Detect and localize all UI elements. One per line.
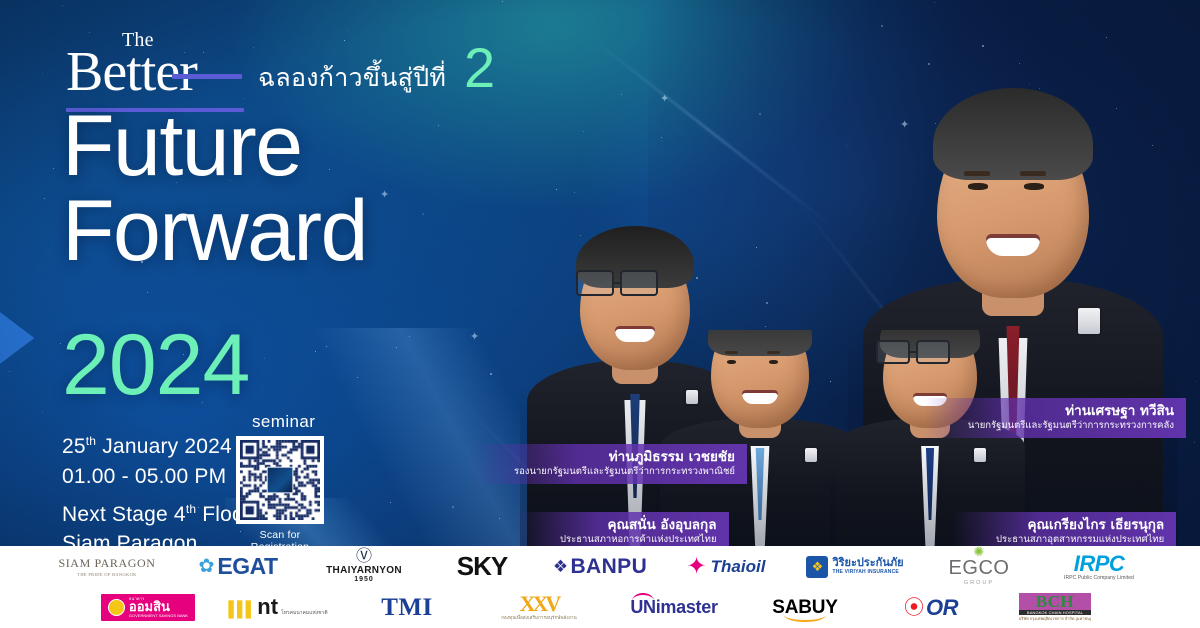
or-droplet-icon: ⦿ xyxy=(904,598,924,618)
event-time: 01.00 - 05.00 PM xyxy=(62,462,251,492)
speaker-name: ท่านภูมิธรรม เวชยชัย xyxy=(514,449,735,466)
egco-leaf-icon: ✺ xyxy=(949,547,1010,556)
sponsor-row-2: ธนาคาร ออมสิน GOVERNMENT SAVINGS BANK ▌▌… xyxy=(0,587,1200,628)
sponsor-sub: THE VIRIYAH INSURANCE xyxy=(832,570,903,575)
thaioil-flame-icon: ✦ xyxy=(687,555,707,579)
sponsor-sub: GOVERNMENT SAVINGS BANK xyxy=(129,614,188,618)
speaker-role: ประธานสภาหอการค้าแห่งประเทศไทย xyxy=(560,534,717,546)
venue-floor-text: Next Stage 4 xyxy=(62,503,186,526)
anniversary-thai-text: ฉลองก้าวขึ้นสู่ปีที่ xyxy=(258,58,446,98)
sponsor-name: TMI xyxy=(381,594,433,622)
page-title: Future Forward xyxy=(62,104,367,274)
sponsor-logo-banpu: ❖ BANPU xyxy=(537,550,663,584)
sponsor-logo-tmi: TMI xyxy=(343,591,471,625)
speaker-role: นายกรัฐมนตรีและรัฐมนตรีว่าการกระทรวงการค… xyxy=(968,420,1174,432)
sponsor-name: SKY xyxy=(457,551,507,582)
unimaster-arc-icon xyxy=(632,593,654,601)
sponsor-tagline: THE PRIDE OF BANGKOK xyxy=(58,572,155,577)
sponsor-name: BANPU xyxy=(570,555,647,579)
speaker-caption-pm: ท่านเศรษฐา ทวีสิน นายกรัฐมนตรีและรัฐมนตร… xyxy=(924,398,1186,438)
speaker-caption-deputy-pm: ท่านภูมิธรรม เวชยชัย รองนายกรัฐมนตรีและร… xyxy=(470,444,747,484)
sponsor-logo-sky: SKY xyxy=(427,550,537,584)
sponsor-logo-nt: ▌▌▌ nt โทรคมนาคมแห่งชาติ xyxy=(213,591,343,625)
vw-roundel-icon: Ⓥ xyxy=(326,550,402,564)
egat-mark-icon: ✿ xyxy=(198,557,214,576)
viriyah-emblem-icon: ❖ xyxy=(806,556,828,578)
sponsor-name: XXV xyxy=(501,594,577,614)
sponsor-logo-irpc: IRPC IRPC Public Company Limited xyxy=(1037,550,1161,584)
sponsor-name: EGCO xyxy=(949,557,1010,580)
sponsor-logo-energy-fund: XXV กองทุนเพื่อส่งเสริมการอนุรักษ์พลังงา… xyxy=(471,591,607,625)
sponsor-logo-viriyah: ❖ วิริยะประกันภัย THE VIRIYAH INSURANCE xyxy=(789,550,921,584)
logo-better-text: Better xyxy=(66,44,197,100)
event-date-ordinal: th xyxy=(86,434,96,448)
sponsor-name: THAIYARNYON xyxy=(326,565,402,576)
registration-qr-block[interactable]: Scan for Registration xyxy=(232,436,328,553)
qr-code-canvas xyxy=(240,440,320,520)
sponsor-name: BCH xyxy=(1019,593,1091,611)
sponsor-name: OR xyxy=(926,595,958,621)
sponsor-logo-thaioil: ✦ Thaioil xyxy=(663,550,789,584)
event-venue-line-1: Next Stage 4th Floor xyxy=(62,500,251,530)
speaker-name: ท่านเศรษฐา ทวีสิน xyxy=(968,403,1174,420)
sponsor-logo-egat: ✿ EGAT xyxy=(175,550,301,584)
speaker-name: คุณเกรียงไกร เธียรนุกุล xyxy=(996,517,1164,534)
sponsor-sub: บริษัท กรุงเทพดุสิตเวชการ จำกัด (มหาชน) xyxy=(1019,615,1091,622)
qr-code[interactable] xyxy=(236,436,324,524)
event-date: 25th January 2024 xyxy=(62,432,251,462)
nt-signal-icon: ▌▌▌ xyxy=(228,602,254,617)
sponsor-name: วิริยะประกันภัย xyxy=(832,558,903,570)
sponsor-sub: IRPC Public Company Limited xyxy=(1064,575,1134,581)
event-date-rest: January 2024 xyxy=(102,435,232,458)
sponsor-logo-egco: ✺ EGCO GROUP xyxy=(921,550,1037,584)
sponsor-name: ออมสิน xyxy=(129,601,188,614)
event-banner: ✦✦✦✦✦✦✦ xyxy=(0,0,1200,628)
sponsor-logo-siam-paragon: SIAM PARAGON THE PRIDE OF BANGKOK xyxy=(39,550,175,584)
sponsor-logo-gsb: ธนาคาร ออมสิน GOVERNMENT SAVINGS BANK xyxy=(83,591,213,625)
banpu-flame-icon: ❖ xyxy=(553,557,569,577)
sponsor-name: Thaioil xyxy=(711,557,766,577)
sponsor-name: IRPC xyxy=(1064,553,1134,575)
sponsor-logo-thaiyarnyon: Ⓥ THAIYARNYON 1950 xyxy=(301,550,427,584)
sponsor-logo-bch: BCH BANGKOK CHAIN HOSPITAL บริษัท กรุงเท… xyxy=(993,591,1117,625)
venue-floor-ordinal: th xyxy=(186,502,196,516)
sponsor-sub: โทรคมนาคมแห่งชาติ xyxy=(281,611,328,617)
sponsor-logo-unimaster: UNimaster xyxy=(607,591,741,625)
speaker-name: คุณสนั่น อังอุบลกุล xyxy=(560,517,717,534)
sponsor-logo-or: ⦿ OR xyxy=(869,591,993,625)
event-details: 25th January 2024 01.00 - 05.00 PM Next … xyxy=(62,432,251,559)
sponsor-band: SIAM PARAGON THE PRIDE OF BANGKOK ✿ EGAT… xyxy=(0,546,1200,628)
speaker-role: รองนายกรัฐมนตรีและรัฐมนตรีว่าการกระทรวงพ… xyxy=(514,466,735,478)
logo-bar-top xyxy=(172,74,242,79)
headline-line-2: Forward xyxy=(62,189,367,274)
sponsor-row-1: SIAM PARAGON THE PRIDE OF BANGKOK ✿ EGAT… xyxy=(0,546,1200,587)
sponsor-year: 1950 xyxy=(326,576,402,583)
gsb-seal-icon xyxy=(108,599,125,616)
sponsor-sub: GROUP xyxy=(949,580,1010,586)
sponsor-name: SIAM PARAGON xyxy=(58,556,155,570)
anniversary-number: 2 xyxy=(464,40,495,96)
sabuy-smile-icon xyxy=(784,615,826,622)
sponsor-logo-sabuy: SABUY xyxy=(741,591,869,625)
event-date-day: 25 xyxy=(62,435,86,458)
sponsor-name: EGAT xyxy=(217,553,277,580)
speaker-role: ประธานสภาอุตสาหกรรมแห่งประเทศไทย xyxy=(996,534,1164,546)
headline-line-1: Future xyxy=(62,98,302,194)
headline-year: 2024 xyxy=(62,322,249,408)
seminar-label: seminar xyxy=(252,412,315,432)
sponsor-sub: กองทุนเพื่อส่งเสริมการอนุรักษ์พลังงาน xyxy=(501,614,577,621)
sponsor-name: nt xyxy=(257,598,278,617)
